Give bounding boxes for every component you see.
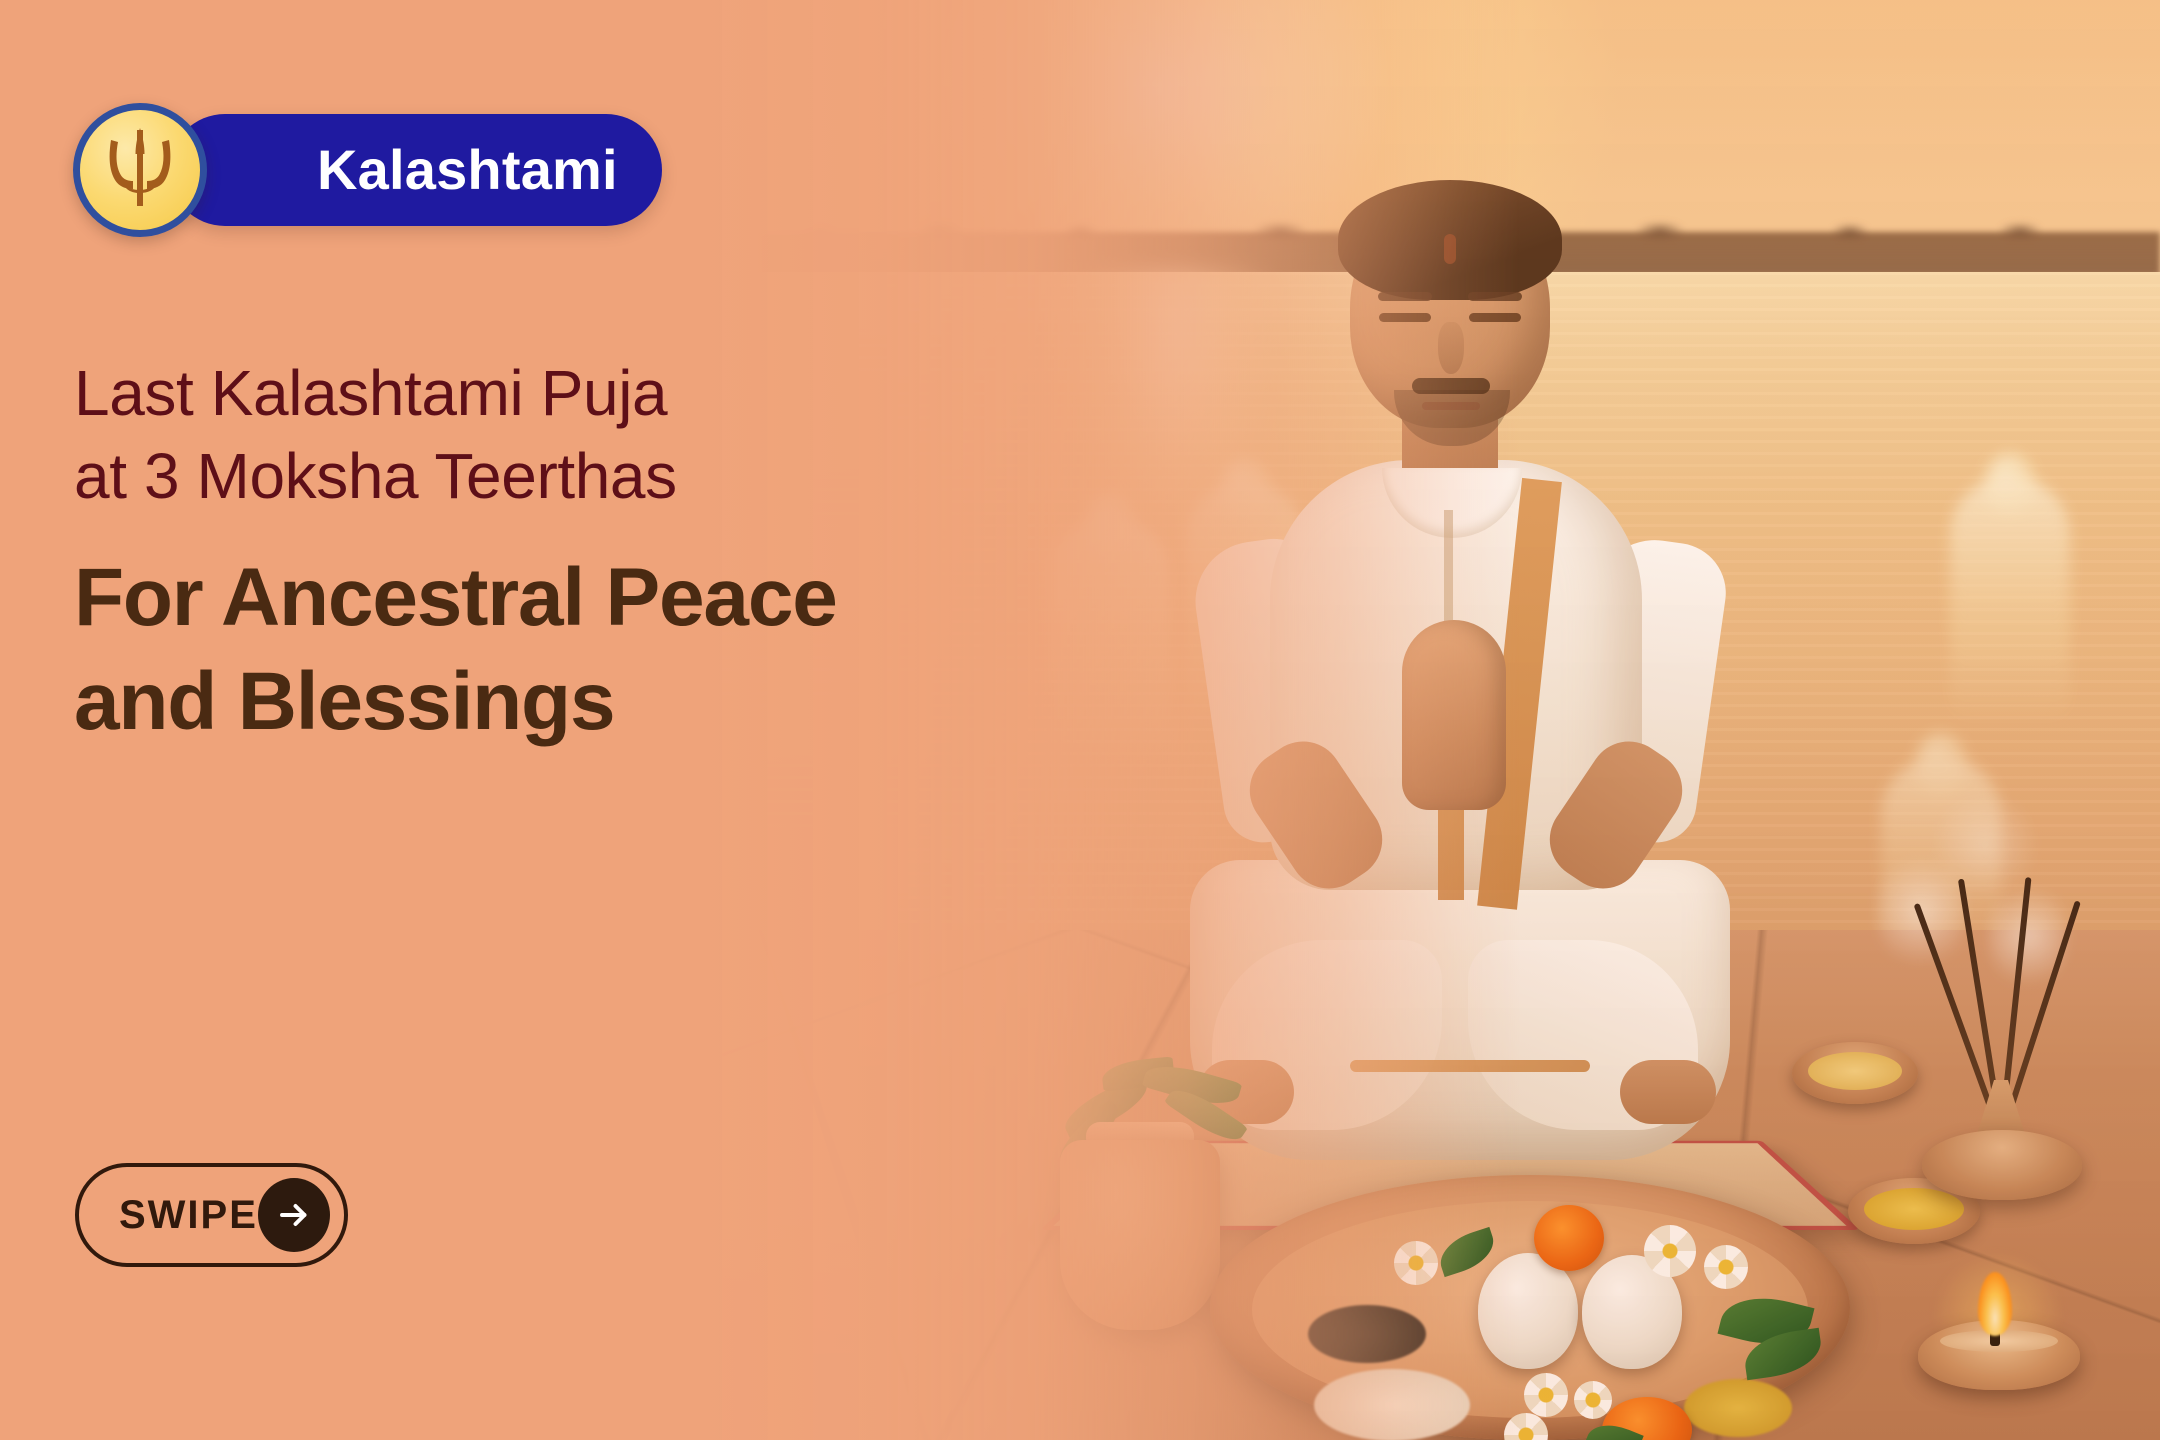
- badge-coin: [73, 103, 207, 237]
- promo-card: Kalashtami Last Kalashtami Puja at 3 Mok…: [0, 0, 2160, 1440]
- puja-thali: [1210, 1175, 1850, 1440]
- headline-line-2: and Blessings: [74, 650, 1134, 753]
- marigold-flower: [1534, 1205, 1604, 1271]
- arrow-right-icon: [276, 1197, 312, 1233]
- subheading: Last Kalashtami Puja at 3 Moksha Teertha…: [74, 352, 1134, 518]
- black-sesame: [1308, 1305, 1426, 1363]
- swipe-arrow-circle[interactable]: [258, 1178, 330, 1252]
- green-leaf: [1434, 1227, 1500, 1277]
- white-flower: [1704, 1245, 1748, 1289]
- headline-line-1: For Ancestral Peace: [74, 546, 1134, 649]
- badge-label: Kalashtami: [317, 142, 618, 198]
- headline: For Ancestral Peace and Blessings: [74, 546, 1134, 753]
- subheading-line-1: Last Kalashtami Puja: [74, 352, 1134, 435]
- oil-lamp-diya: [1898, 1272, 2098, 1412]
- incense-sticks: [1880, 930, 2140, 1250]
- white-flower: [1504, 1413, 1548, 1440]
- subheading-line-2: at 3 Moksha Teerthas: [74, 435, 1134, 518]
- incense-smoke: [1930, 790, 2040, 900]
- white-flower: [1524, 1373, 1568, 1417]
- turmeric-paste: [1684, 1379, 1792, 1437]
- kalash-pot: [1060, 1140, 1220, 1330]
- swipe-button[interactable]: SWIPE: [75, 1163, 348, 1267]
- swipe-label: SWIPE: [119, 1195, 258, 1235]
- white-flower: [1574, 1381, 1612, 1419]
- rice-offering: [1314, 1369, 1470, 1440]
- copy-block: Last Kalashtami Puja at 3 Moksha Teertha…: [74, 352, 1134, 753]
- white-flower: [1394, 1241, 1438, 1285]
- namaste-hands: [1402, 620, 1506, 810]
- trishul-icon: [102, 128, 178, 212]
- white-flower: [1644, 1225, 1696, 1277]
- badge-pill[interactable]: Kalashtami: [169, 114, 662, 226]
